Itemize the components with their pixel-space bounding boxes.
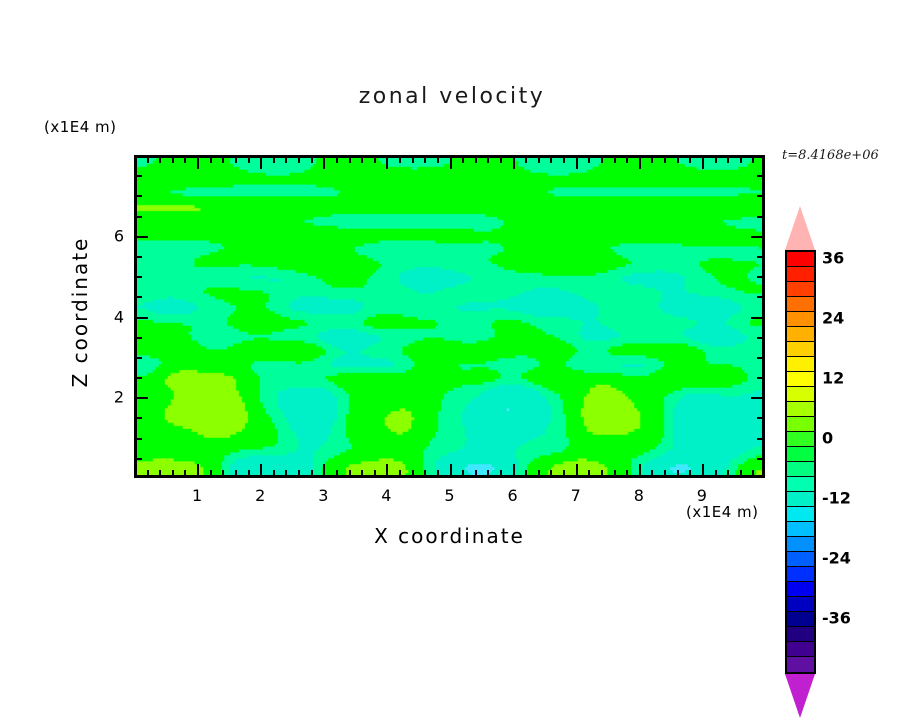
x-tick-minor bbox=[235, 470, 237, 476]
x-tick-minor-top bbox=[563, 157, 565, 163]
x-tick-minor bbox=[273, 470, 275, 476]
colorbar-cell bbox=[787, 477, 814, 492]
y-tick-minor bbox=[136, 175, 142, 177]
x-tick-minor-top bbox=[311, 157, 313, 163]
x-tick-minor-top bbox=[147, 157, 149, 163]
x-tick-minor-top bbox=[412, 157, 414, 163]
timestamp-label: t=8.4168e+06 bbox=[782, 148, 879, 163]
colorbar-cell bbox=[787, 597, 814, 612]
colorbar-cell bbox=[787, 252, 814, 267]
x-tick-major-top bbox=[576, 157, 578, 169]
x-tick-minor-top bbox=[399, 157, 401, 163]
x-tick-major bbox=[702, 464, 704, 476]
colorbar-cell bbox=[787, 297, 814, 312]
x-tick-minor bbox=[159, 470, 161, 476]
colorbar-cell bbox=[787, 582, 814, 597]
colorbar-tick-label: -12 bbox=[822, 489, 851, 508]
x-tick-minor-top bbox=[601, 157, 603, 163]
x-tick-minor-top bbox=[349, 157, 351, 163]
x-tick-minor bbox=[752, 470, 754, 476]
figure-canvas: zonal velocity (x1E4 m) (x1E4 m) t=8.416… bbox=[0, 0, 904, 654]
y-tick-minor-right bbox=[757, 296, 763, 298]
y-tick-minor bbox=[136, 417, 142, 419]
colorbar-cell bbox=[787, 282, 814, 297]
x-tick-minor bbox=[664, 470, 666, 476]
x-tick-minor-top bbox=[525, 157, 527, 163]
y-tick-minor bbox=[136, 296, 142, 298]
y-tick-minor-right bbox=[757, 175, 763, 177]
x-tick-minor-top bbox=[500, 157, 502, 163]
y-tick-major bbox=[136, 317, 148, 319]
x-tick-minor-top bbox=[235, 157, 237, 163]
y-tick-minor-right bbox=[757, 417, 763, 419]
x-tick-minor-top bbox=[424, 157, 426, 163]
x-tick-major bbox=[450, 464, 452, 476]
colorbar-cell bbox=[787, 552, 814, 567]
x-tick-minor bbox=[727, 470, 729, 476]
colorbar-cell bbox=[787, 312, 814, 327]
x-tick-minor-top bbox=[538, 157, 540, 163]
x-tick-minor-top bbox=[614, 157, 616, 163]
y-tick-minor bbox=[136, 357, 142, 359]
x-tick-major-top bbox=[450, 157, 452, 169]
y-tick-minor bbox=[136, 195, 142, 197]
colorbar-tick-label: -36 bbox=[822, 609, 851, 628]
x-tick-minor bbox=[475, 470, 477, 476]
y-tick-label: 2 bbox=[94, 388, 124, 407]
x-tick-minor bbox=[222, 470, 224, 476]
x-tick-minor-top bbox=[184, 157, 186, 163]
x-tick-minor bbox=[437, 470, 439, 476]
x-tick-minor-top bbox=[336, 157, 338, 163]
colorbar-tick-label: 12 bbox=[822, 369, 844, 388]
x-tick-label: 8 bbox=[634, 486, 644, 505]
x-tick-minor bbox=[651, 470, 653, 476]
x-tick-minor bbox=[285, 470, 287, 476]
x-tick-major bbox=[323, 464, 325, 476]
x-tick-minor-top bbox=[374, 157, 376, 163]
x-tick-major bbox=[260, 464, 262, 476]
x-tick-major bbox=[576, 464, 578, 476]
y-tick-major-right bbox=[751, 236, 763, 238]
colorbar-cell bbox=[787, 342, 814, 357]
colorbar-cell bbox=[787, 537, 814, 552]
x-tick-label: 1 bbox=[192, 486, 202, 505]
colorbar-cell bbox=[787, 522, 814, 537]
x-tick-minor bbox=[525, 470, 527, 476]
x-tick-label: 6 bbox=[508, 486, 518, 505]
y-axis-title: Z coordinate bbox=[68, 192, 92, 432]
y-tick-minor bbox=[136, 216, 142, 218]
x-tick-minor-top bbox=[487, 157, 489, 163]
x-tick-major-top bbox=[386, 157, 388, 169]
x-tick-major-top bbox=[260, 157, 262, 169]
colorbar-cell bbox=[787, 507, 814, 522]
colorbar-cell bbox=[787, 402, 814, 417]
colorbar-cell bbox=[787, 642, 814, 657]
y-tick-minor-right bbox=[757, 337, 763, 339]
x-tick-label: 9 bbox=[697, 486, 707, 505]
x-tick-minor-top bbox=[273, 157, 275, 163]
y-tick-minor-right bbox=[757, 256, 763, 258]
contour-field bbox=[137, 158, 762, 475]
x-tick-minor bbox=[487, 470, 489, 476]
x-tick-minor bbox=[563, 470, 565, 476]
x-tick-minor-top bbox=[727, 157, 729, 163]
x-tick-label: 5 bbox=[444, 486, 454, 505]
x-tick-label: 2 bbox=[255, 486, 265, 505]
x-tick-label: 7 bbox=[571, 486, 581, 505]
x-tick-minor bbox=[399, 470, 401, 476]
x-tick-minor-top bbox=[159, 157, 161, 163]
y-tick-minor-right bbox=[757, 377, 763, 379]
x-tick-minor bbox=[689, 470, 691, 476]
x-axis-unit-label: (x1E4 m) bbox=[686, 503, 759, 521]
x-tick-minor bbox=[715, 470, 717, 476]
x-tick-minor-top bbox=[210, 157, 212, 163]
colorbar-cell bbox=[787, 267, 814, 282]
x-tick-minor-top bbox=[651, 157, 653, 163]
x-tick-minor bbox=[210, 470, 212, 476]
colorbar-tick-label: -24 bbox=[822, 549, 851, 568]
x-tick-minor-top bbox=[462, 157, 464, 163]
x-tick-minor-top bbox=[664, 157, 666, 163]
colorbar-cell bbox=[787, 432, 814, 447]
x-tick-minor bbox=[500, 470, 502, 476]
x-axis-title: X coordinate bbox=[134, 524, 765, 548]
colorbar-cell bbox=[787, 627, 814, 642]
x-tick-minor-top bbox=[677, 157, 679, 163]
x-tick-minor bbox=[462, 470, 464, 476]
colorbar-cell bbox=[787, 447, 814, 462]
x-tick-minor bbox=[298, 470, 300, 476]
colorbar-cell bbox=[787, 657, 814, 672]
x-tick-minor-top bbox=[361, 157, 363, 163]
x-tick-major bbox=[639, 464, 641, 476]
x-tick-minor-top bbox=[715, 157, 717, 163]
x-tick-major bbox=[386, 464, 388, 476]
x-tick-minor-top bbox=[248, 157, 250, 163]
x-tick-minor-top bbox=[588, 157, 590, 163]
x-tick-minor bbox=[626, 470, 628, 476]
x-tick-minor-top bbox=[740, 157, 742, 163]
x-tick-major-top bbox=[639, 157, 641, 169]
x-tick-minor bbox=[361, 470, 363, 476]
x-tick-minor-top bbox=[285, 157, 287, 163]
x-tick-minor-top bbox=[689, 157, 691, 163]
x-tick-minor-top bbox=[298, 157, 300, 163]
colorbar-tick-label: 36 bbox=[822, 249, 844, 268]
colorbar-cell bbox=[787, 492, 814, 507]
y-tick-minor-right bbox=[757, 438, 763, 440]
y-tick-minor bbox=[136, 438, 142, 440]
x-tick-minor bbox=[311, 470, 313, 476]
x-tick-label: 4 bbox=[381, 486, 391, 505]
y-tick-major bbox=[136, 397, 148, 399]
y-tick-minor-right bbox=[757, 195, 763, 197]
y-tick-minor-right bbox=[757, 357, 763, 359]
x-tick-minor bbox=[336, 470, 338, 476]
x-tick-major-top bbox=[323, 157, 325, 169]
y-tick-minor-right bbox=[757, 458, 763, 460]
x-tick-minor-top bbox=[437, 157, 439, 163]
colorbar-cell bbox=[787, 567, 814, 582]
x-tick-minor-top bbox=[475, 157, 477, 163]
colorbar-cell bbox=[787, 462, 814, 477]
colorbar-cell bbox=[787, 612, 814, 627]
y-tick-minor-right bbox=[757, 276, 763, 278]
x-tick-minor bbox=[424, 470, 426, 476]
x-tick-major bbox=[197, 464, 199, 476]
colorbar-cell bbox=[787, 417, 814, 432]
x-tick-minor bbox=[538, 470, 540, 476]
x-tick-minor bbox=[614, 470, 616, 476]
x-tick-minor bbox=[412, 470, 414, 476]
x-tick-minor bbox=[147, 470, 149, 476]
y-tick-major-right bbox=[751, 397, 763, 399]
x-tick-minor-top bbox=[172, 157, 174, 163]
y-tick-minor bbox=[136, 256, 142, 258]
y-axis-unit-label: (x1E4 m) bbox=[44, 118, 117, 136]
page-title: zonal velocity bbox=[0, 84, 904, 109]
x-tick-minor bbox=[349, 470, 351, 476]
x-tick-minor bbox=[740, 470, 742, 476]
y-tick-minor bbox=[136, 377, 142, 379]
colorbar-under-arrow bbox=[785, 674, 815, 718]
x-tick-minor bbox=[374, 470, 376, 476]
y-tick-label: 6 bbox=[94, 226, 124, 245]
y-tick-label: 4 bbox=[94, 307, 124, 326]
contour-plot-area bbox=[134, 155, 765, 478]
y-tick-minor bbox=[136, 458, 142, 460]
x-tick-major-top bbox=[197, 157, 199, 169]
y-tick-major bbox=[136, 236, 148, 238]
y-tick-minor-right bbox=[757, 216, 763, 218]
x-tick-minor-top bbox=[626, 157, 628, 163]
colorbar-cell bbox=[787, 372, 814, 387]
x-tick-minor bbox=[677, 470, 679, 476]
x-tick-minor bbox=[601, 470, 603, 476]
x-tick-minor bbox=[550, 470, 552, 476]
colorbar-over-arrow bbox=[785, 206, 815, 250]
x-tick-minor bbox=[588, 470, 590, 476]
y-tick-major-right bbox=[751, 317, 763, 319]
colorbar-cell bbox=[787, 327, 814, 342]
x-tick-major bbox=[513, 464, 515, 476]
x-tick-minor-top bbox=[550, 157, 552, 163]
colorbar-swatches bbox=[785, 250, 816, 674]
colorbar-cell bbox=[787, 387, 814, 402]
x-tick-minor-top bbox=[752, 157, 754, 163]
x-tick-label: 3 bbox=[318, 486, 328, 505]
x-tick-major-top bbox=[513, 157, 515, 169]
y-tick-minor bbox=[136, 337, 142, 339]
x-tick-minor bbox=[184, 470, 186, 476]
y-tick-minor bbox=[136, 276, 142, 278]
colorbar-tick-label: 0 bbox=[822, 429, 833, 448]
x-tick-minor-top bbox=[222, 157, 224, 163]
colorbar-tick-label: 24 bbox=[822, 309, 844, 328]
x-tick-major-top bbox=[702, 157, 704, 169]
x-tick-minor bbox=[172, 470, 174, 476]
colorbar-cell bbox=[787, 357, 814, 372]
x-tick-minor bbox=[248, 470, 250, 476]
